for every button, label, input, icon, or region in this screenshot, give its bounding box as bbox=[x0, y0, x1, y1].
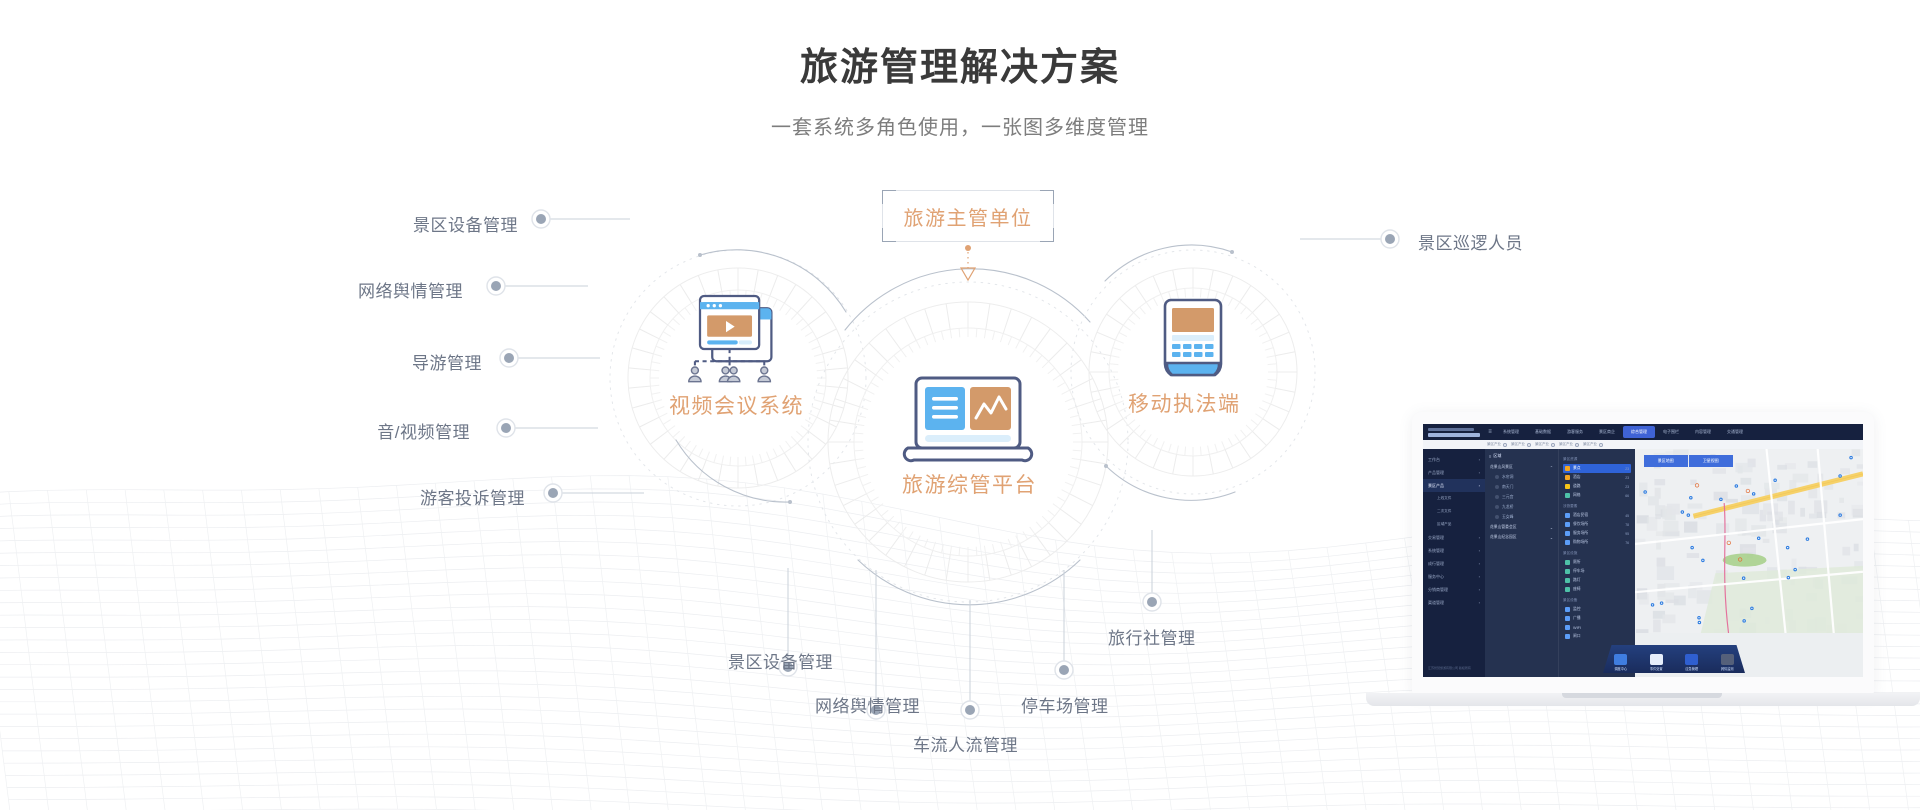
dock-item-icon bbox=[1685, 654, 1698, 665]
laptop-foot bbox=[1562, 693, 1722, 698]
region-tree-label: 花果山管委会区 bbox=[1490, 525, 1517, 530]
layer-item-count: 76 bbox=[1625, 541, 1629, 545]
layer-type-icon bbox=[1565, 607, 1570, 612]
bullet-icon bbox=[1495, 495, 1499, 499]
dashboard-sidebar-item-10[interactable]: 分销商管理› bbox=[1423, 583, 1485, 596]
dock-item-label: 舆情监测 bbox=[1721, 666, 1734, 671]
dock-item-label: 调度中心 bbox=[1614, 666, 1627, 671]
close-icon[interactable] bbox=[1551, 443, 1555, 447]
layer-item-count: 23 bbox=[1625, 485, 1629, 489]
dashboard-sidebar-item-1[interactable]: 产品管理› bbox=[1423, 466, 1485, 479]
map-pill-0[interactable]: 景区地图 bbox=[1644, 455, 1688, 467]
map-dock: 调度中心事件处置应急管理舆情监测 bbox=[1603, 645, 1745, 673]
region-tree-label: 九龙桥 bbox=[1502, 505, 1513, 510]
tab-chip-label: 景区产业 bbox=[1583, 442, 1597, 447]
layer-item-label: 酒店 bbox=[1573, 475, 1625, 480]
layer-type-icon bbox=[1565, 531, 1570, 536]
layer-type-icon bbox=[1565, 634, 1570, 639]
node-title-tourism-platform: 旅游综管平台 bbox=[902, 469, 1037, 499]
layer-group-title-1: 涉旅要素 bbox=[1563, 504, 1631, 509]
chevron-right-icon: › bbox=[1479, 470, 1480, 475]
layer-item-label: 厕所 bbox=[1573, 560, 1629, 565]
dashboard-app: ≡ 系统管理基础数据游客服务景区商企综合管理电子围栏内容管理交通管理 景区产业景… bbox=[1423, 424, 1863, 677]
left-label-1[interactable]: 网络舆情管理 bbox=[353, 277, 463, 302]
layer-item-1-2[interactable]: 服务场所95 bbox=[1563, 529, 1631, 538]
chevron-right-icon: › bbox=[1479, 457, 1480, 462]
layer-type-icon bbox=[1565, 540, 1570, 545]
bottom-label-2[interactable]: 车流人流管理 bbox=[913, 731, 1018, 756]
sidebar-item-label: 上线文件 bbox=[1437, 496, 1451, 501]
chevron-right-icon: › bbox=[1479, 561, 1480, 566]
dock-item-icon bbox=[1614, 654, 1627, 665]
bottom-label-1[interactable]: 网络舆情管理 bbox=[815, 692, 920, 717]
layer-type-icon bbox=[1565, 616, 1570, 621]
layer-item-label: 网格 bbox=[1573, 493, 1625, 498]
left-label-2[interactable]: 导游管理 bbox=[372, 349, 482, 374]
layer-item-label: 广播 bbox=[1573, 616, 1629, 621]
layer-item-label: 购物场所 bbox=[1573, 540, 1625, 545]
dashboard-sidebar-item-9[interactable]: 服务中心› bbox=[1423, 570, 1485, 583]
chevron-right-icon: › bbox=[1479, 587, 1480, 592]
layer-item-count: 45 bbox=[1625, 514, 1629, 518]
layer-item-label: WIFI bbox=[1573, 626, 1629, 630]
region-panel-title: ≡ 区域 bbox=[1489, 453, 1554, 459]
dashboard-nav-item-1[interactable]: 基础数据 bbox=[1527, 426, 1559, 438]
dashboard-sidebar-item-8[interactable]: 成行管理› bbox=[1423, 557, 1485, 570]
chevron-right-icon: › bbox=[1479, 535, 1480, 540]
region-tree-node-0[interactable]: 花果山风景区⌃ bbox=[1489, 462, 1554, 472]
dashboard-sidebar-item-0[interactable]: 工作台› bbox=[1423, 453, 1485, 466]
layer-group-title-0: 景区资源 bbox=[1563, 457, 1631, 462]
layer-item-0-1[interactable]: 酒店23 bbox=[1563, 473, 1631, 482]
dock-item-label: 应急管理 bbox=[1685, 666, 1698, 671]
layer-item-count: 78 bbox=[1625, 523, 1629, 527]
layer-item-label: 服务场所 bbox=[1573, 531, 1625, 536]
region-tree-label: 花果山纪念园区 bbox=[1490, 535, 1517, 540]
dashboard-sidebar-item-11[interactable]: 渠道管理› bbox=[1423, 596, 1485, 609]
dashboard-sidebar-item-2[interactable]: 景区产品› bbox=[1423, 479, 1485, 492]
layer-item-0-3[interactable]: 网格66 bbox=[1563, 491, 1631, 500]
layer-item-3-1[interactable]: 广播 bbox=[1563, 614, 1631, 623]
node-title-video-conference: 视频会议系统 bbox=[669, 390, 804, 420]
sidebar-item-label: 景区产品 bbox=[1428, 483, 1444, 489]
layer-type-icon bbox=[1565, 522, 1570, 527]
layer-item-label: 停车场 bbox=[1573, 569, 1629, 574]
authority-box: 旅游主管单位 bbox=[882, 190, 1054, 242]
region-tree-node-5[interactable]: 玉女峰 bbox=[1489, 512, 1554, 522]
sidebar-item-label: 成行管理 bbox=[1428, 561, 1444, 567]
sidebar-item-label: 区域产品 bbox=[1437, 522, 1451, 527]
layer-group-title-2: 景区设施 bbox=[1563, 551, 1631, 556]
tab-chip-label: 景区产业 bbox=[1487, 442, 1501, 447]
dashboard-nav-item-0[interactable]: 系统管理 bbox=[1495, 426, 1527, 438]
layer-item-label: 道路 bbox=[1573, 484, 1625, 489]
handheld-device-icon bbox=[1165, 300, 1221, 375]
layer-item-count: 23 bbox=[1625, 467, 1629, 471]
sidebar-item-label: 服务中心 bbox=[1428, 574, 1444, 580]
left-label-3[interactable]: 音/视频管理 bbox=[360, 418, 470, 443]
layer-item-label: 路灯 bbox=[1573, 578, 1629, 583]
dock-item-icon bbox=[1650, 654, 1663, 665]
chevron-down-icon[interactable]: ⌄ bbox=[1550, 525, 1553, 530]
dashboard-nav-item-3[interactable]: 景区商企 bbox=[1591, 426, 1623, 438]
sidebar-footer: 江苏智慧旅游有限公司 版权所有 bbox=[1423, 662, 1485, 677]
bottom-label-4[interactable]: 旅行社管理 bbox=[1108, 624, 1196, 649]
layer-type-icon bbox=[1565, 513, 1570, 518]
layer-item-label: 景点 bbox=[1573, 466, 1625, 471]
close-icon[interactable] bbox=[1575, 443, 1579, 447]
layer-type-icon bbox=[1565, 569, 1570, 574]
layer-item-2-1[interactable]: 停车场 bbox=[1563, 567, 1631, 576]
layer-group-title-3: 景区设备 bbox=[1563, 598, 1631, 603]
video-window-icon bbox=[689, 296, 772, 382]
region-tree-label: 水帘洞 bbox=[1502, 475, 1513, 480]
dashboard-nav-item-2[interactable]: 游客服务 bbox=[1559, 426, 1591, 438]
sidebar-item-label: 系统管理 bbox=[1428, 548, 1444, 554]
sidebar-item-label: 产品管理 bbox=[1428, 470, 1444, 476]
dock-item-label: 事件处置 bbox=[1650, 666, 1663, 671]
dashboard-tab-chip-3[interactable]: 景区产业 bbox=[1559, 442, 1579, 447]
bottom-label-3[interactable]: 停车场管理 bbox=[1021, 692, 1109, 717]
region-tree-node-1[interactable]: 水帘洞 bbox=[1489, 472, 1554, 482]
dashboard-sidebar-item-6[interactable]: 交易管理› bbox=[1423, 531, 1485, 544]
region-tree-panel: ≡ 区域 花果山风景区⌃水帘洞南天门三元宫九龙桥玉女峰花果山管委会区⌄花果山纪念… bbox=[1485, 449, 1559, 677]
layer-item-2-2[interactable]: 路灯 bbox=[1563, 576, 1631, 585]
region-tree-label: 花果山风景区 bbox=[1490, 465, 1513, 470]
dashboard-nav-item-5[interactable]: 电子围栏 bbox=[1655, 426, 1687, 438]
left-label-4[interactable]: 游客投诉管理 bbox=[415, 484, 525, 509]
layer-item-count: 23 bbox=[1625, 476, 1629, 480]
layer-item-3-3[interactable]: 闸口 bbox=[1563, 632, 1631, 641]
chevron-down-icon[interactable]: ⌄ bbox=[1550, 535, 1553, 540]
sidebar-item-label: 分销商管理 bbox=[1428, 587, 1448, 593]
region-tree-node-6[interactable]: 花果山管委会区⌄ bbox=[1489, 522, 1554, 532]
region-tree-node-7[interactable]: 花果山纪念园区⌄ bbox=[1489, 532, 1554, 542]
dashboard-tab-chip-1[interactable]: 景区产业 bbox=[1511, 442, 1531, 447]
dashboard-tab-chips: 景区产业景区产业景区产业景区产业景区产业 bbox=[1423, 440, 1863, 449]
region-tree-label: 南天门 bbox=[1502, 485, 1513, 490]
node-title-mobile-enforcement: 移动执法端 bbox=[1128, 388, 1241, 418]
layer-type-icon bbox=[1565, 484, 1570, 489]
layer-item-3-0[interactable]: 监控 bbox=[1563, 605, 1631, 614]
layer-item-1-0[interactable]: 酒店民宿45 bbox=[1563, 511, 1631, 520]
chevron-right-icon: › bbox=[1479, 483, 1480, 488]
dashboard-nav-item-4[interactable]: 综合管理 bbox=[1623, 426, 1655, 438]
close-icon[interactable] bbox=[1527, 443, 1531, 447]
layer-type-icon bbox=[1565, 493, 1570, 498]
map-view-toggle[interactable]: 景区地图卫星视图 bbox=[1644, 455, 1733, 467]
layer-item-label: 酒店民宿 bbox=[1573, 513, 1625, 518]
layer-item-0-2[interactable]: 道路23 bbox=[1563, 482, 1631, 491]
layer-item-3-2[interactable]: WIFI bbox=[1563, 623, 1631, 632]
bullet-icon bbox=[1495, 485, 1499, 489]
chevron-right-icon: › bbox=[1479, 600, 1480, 605]
region-tree: 花果山风景区⌃水帘洞南天门三元宫九龙桥玉女峰花果山管委会区⌄花果山纪念园区⌄ bbox=[1489, 462, 1554, 542]
chevron-right-icon: › bbox=[1479, 574, 1480, 579]
map-dock-item-3[interactable]: 舆情监测 bbox=[1721, 654, 1734, 671]
close-icon[interactable] bbox=[1599, 443, 1603, 447]
map-pill-1[interactable]: 卫星视图 bbox=[1689, 455, 1733, 467]
authority-label: 旅游主管单位 bbox=[904, 202, 1033, 231]
layer-item-label: 闸口 bbox=[1573, 634, 1629, 639]
layer-type-icon bbox=[1565, 475, 1570, 480]
layer-item-label: 监控 bbox=[1573, 607, 1629, 612]
layer-item-count: 66 bbox=[1625, 494, 1629, 498]
dashboard-tab-chip-4[interactable]: 景区产业 bbox=[1583, 442, 1603, 447]
region-tree-node-2[interactable]: 南天门 bbox=[1489, 482, 1554, 492]
sidebar-item-label: 渠道管理 bbox=[1428, 600, 1444, 606]
dashboard-sidebar-item-4[interactable]: 二次文件 bbox=[1423, 505, 1485, 518]
close-icon[interactable] bbox=[1503, 443, 1507, 447]
dashboard-sidebar: 工作台›产品管理›景区产品›上线文件二次文件区域产品交易管理›系统管理›成行管理… bbox=[1423, 449, 1485, 677]
dashboard-tab-chip-0[interactable]: 景区产业 bbox=[1487, 442, 1507, 447]
dashboard-logo bbox=[1423, 428, 1485, 437]
page-header: 旅游管理解决方案 一套系统多角色使用，一张图多维度管理 bbox=[0, 0, 1920, 140]
dashboard-nav-item-7[interactable]: 交通管理 bbox=[1719, 426, 1751, 438]
chevron-up-icon[interactable]: ⌃ bbox=[1550, 465, 1553, 470]
layer-item-2-3[interactable]: 座椅 bbox=[1563, 585, 1631, 594]
sidebar-item-label: 工作台 bbox=[1428, 457, 1440, 463]
dashboard-tab-chip-2[interactable]: 景区产业 bbox=[1535, 442, 1555, 447]
page-title: 旅游管理解决方案 bbox=[0, 48, 1920, 90]
sidebar-item-label: 二次文件 bbox=[1437, 509, 1451, 514]
layer-item-count: 95 bbox=[1625, 532, 1629, 536]
region-tree-label: 三元宫 bbox=[1502, 495, 1513, 500]
layer-item-label: 座椅 bbox=[1573, 587, 1629, 592]
layer-type-icon bbox=[1565, 560, 1570, 565]
laptop-screen: ≡ 系统管理基础数据游客服务景区商企综合管理电子围栏内容管理交通管理 景区产业景… bbox=[1423, 424, 1863, 677]
layer-type-icon bbox=[1565, 625, 1570, 630]
layer-groups: 景区资源景点23酒店23道路23网格66涉旅要素酒店民宿45餐饮场所78服务场所… bbox=[1559, 449, 1635, 677]
map-dock-item-0[interactable]: 调度中心 bbox=[1614, 654, 1627, 671]
layer-item-1-3[interactable]: 购物场所76 bbox=[1563, 538, 1631, 547]
layer-type-icon bbox=[1565, 587, 1570, 592]
dashboard-sidebar-item-5[interactable]: 区域产品 bbox=[1423, 518, 1485, 531]
page-subtitle: 一套系统多角色使用，一张图多维度管理 bbox=[0, 111, 1920, 140]
layer-item-label: 餐饮场所 bbox=[1573, 522, 1625, 527]
layer-type-icon bbox=[1565, 466, 1570, 471]
right-label-0[interactable]: 景区巡逻人员 bbox=[1418, 229, 1523, 254]
hamburger-icon[interactable]: ≡ bbox=[1485, 429, 1495, 435]
bullet-icon bbox=[1495, 505, 1499, 509]
laptop-mockup: ≡ 系统管理基础数据游客服务景区商企综合管理电子围栏内容管理交通管理 景区产业景… bbox=[1366, 412, 1920, 722]
bottom-label-0[interactable]: 景区设备管理 bbox=[728, 648, 833, 673]
layer-item-0-0[interactable]: 景点23 bbox=[1563, 464, 1631, 473]
layer-type-icon bbox=[1565, 578, 1570, 583]
list-icon: ≡ bbox=[1489, 454, 1491, 459]
map-layer-panel: ≡ 区域 花果山风景区⌃水帘洞南天门三元宫九龙桥玉女峰花果山管委会区⌄花果山纪念… bbox=[1485, 449, 1635, 677]
layer-item-1-1[interactable]: 餐饮场所78 bbox=[1563, 520, 1631, 529]
sidebar-item-label: 交易管理 bbox=[1428, 535, 1444, 541]
bullet-icon bbox=[1495, 515, 1499, 519]
laptop-body: ≡ 系统管理基础数据游客服务景区商企综合管理电子围栏内容管理交通管理 景区产业景… bbox=[1412, 412, 1874, 695]
region-tree-node-4[interactable]: 九龙桥 bbox=[1489, 502, 1554, 512]
dashboard-main: ≡ 区域 花果山风景区⌃水帘洞南天门三元宫九龙桥玉女峰花果山管委会区⌄花果山纪念… bbox=[1485, 449, 1863, 677]
map-dock-item-1[interactable]: 事件处置 bbox=[1650, 654, 1663, 671]
authority-connector bbox=[961, 245, 975, 280]
layer-item-2-0[interactable]: 厕所 bbox=[1563, 558, 1631, 567]
laptop-dashboard-icon bbox=[904, 378, 1031, 461]
dashboard-sidebar-item-7[interactable]: 系统管理› bbox=[1423, 544, 1485, 557]
chevron-right-icon: › bbox=[1479, 548, 1480, 553]
map-dock-item-2[interactable]: 应急管理 bbox=[1685, 654, 1698, 671]
bullet-icon bbox=[1495, 475, 1499, 479]
region-tree-label: 玉女峰 bbox=[1502, 515, 1513, 520]
left-label-0[interactable]: 景区设备管理 bbox=[408, 211, 518, 236]
tab-chip-label: 景区产业 bbox=[1559, 442, 1573, 447]
dashboard-topbar: ≡ 系统管理基础数据游客服务景区商企综合管理电子围栏内容管理交通管理 bbox=[1423, 424, 1863, 440]
dashboard-nav: 系统管理基础数据游客服务景区商企综合管理电子围栏内容管理交通管理 bbox=[1495, 426, 1863, 438]
dashboard-nav-item-6[interactable]: 内容管理 bbox=[1687, 426, 1719, 438]
dock-item-icon bbox=[1721, 654, 1734, 665]
dashboard-sidebar-item-3[interactable]: 上线文件 bbox=[1423, 492, 1485, 505]
tab-chip-label: 景区产业 bbox=[1511, 442, 1525, 447]
region-tree-node-3[interactable]: 三元宫 bbox=[1489, 492, 1554, 502]
tab-chip-label: 景区产业 bbox=[1535, 442, 1549, 447]
map-canvas[interactable] bbox=[1635, 449, 1863, 633]
